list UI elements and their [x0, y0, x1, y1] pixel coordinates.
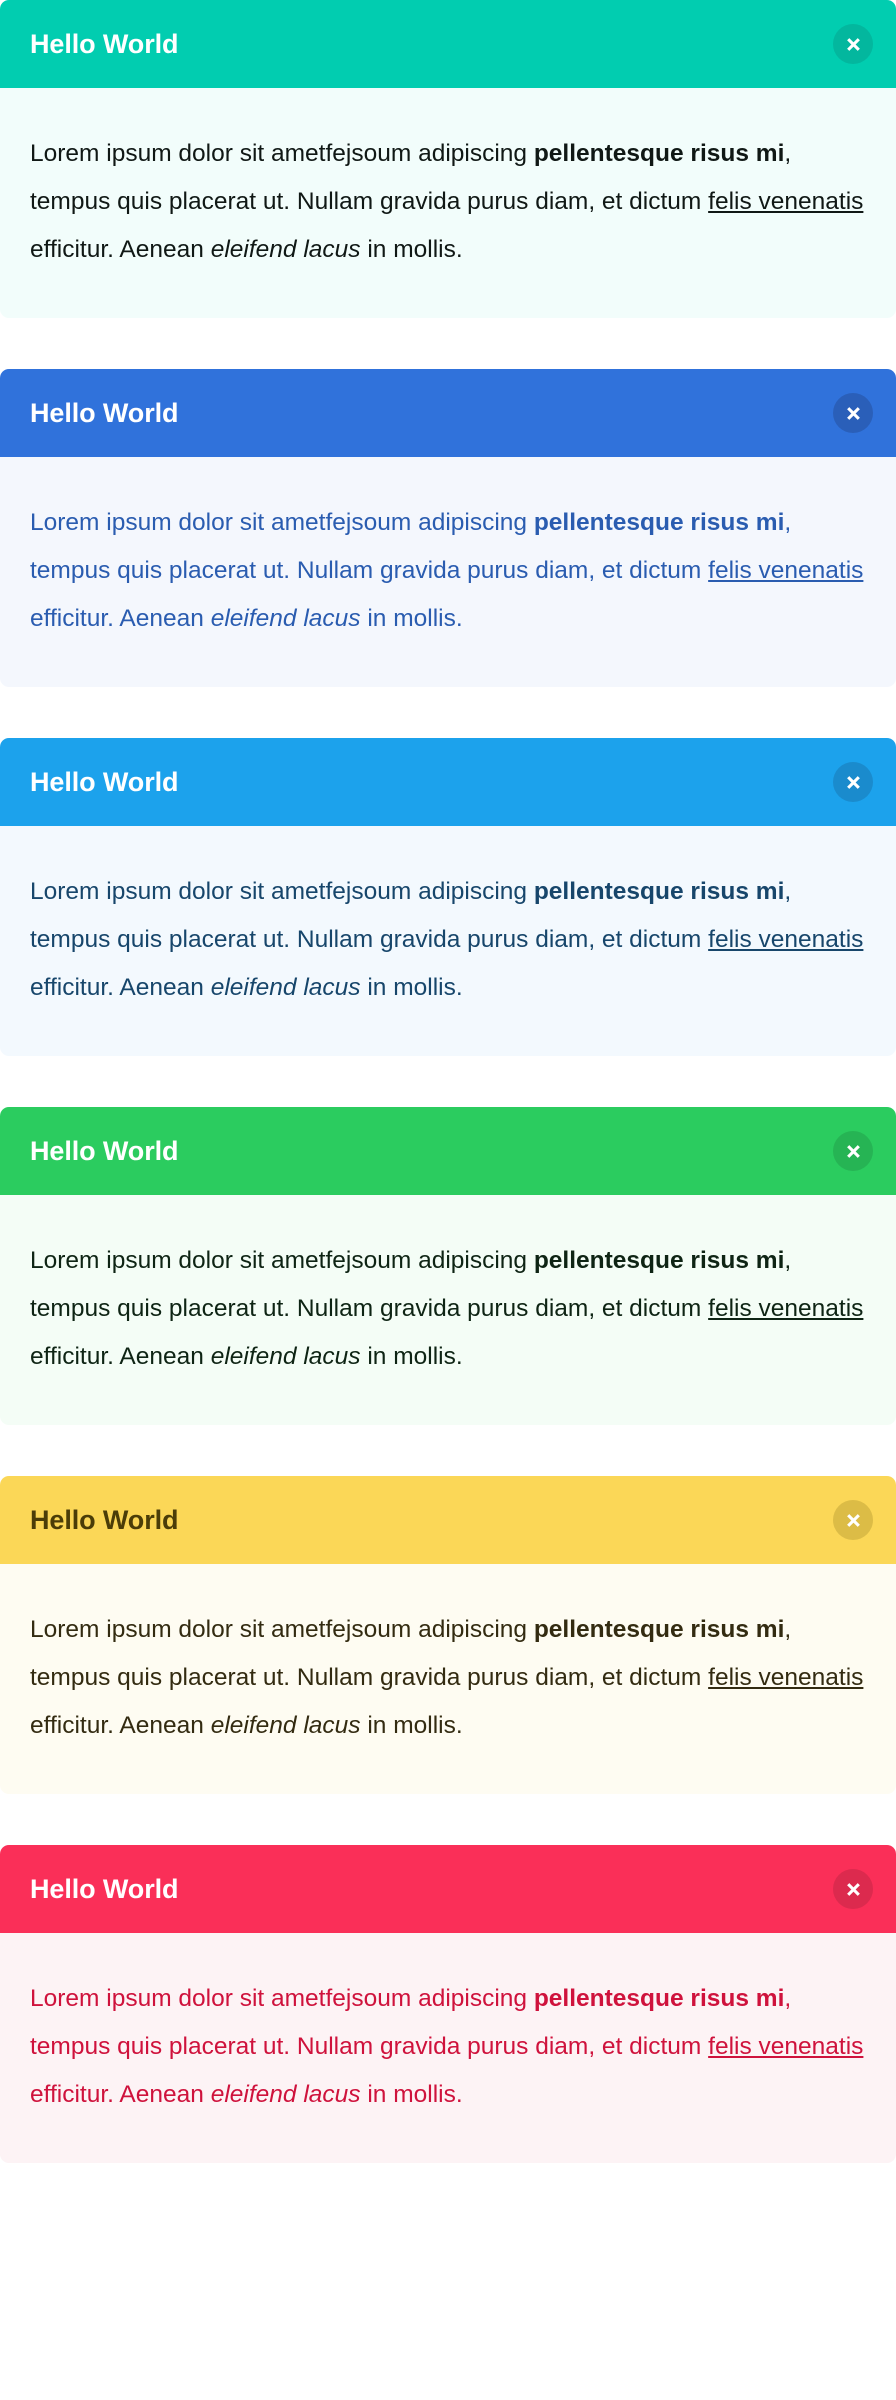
- alert-paragraph: Lorem ipsum dolor sit ametfejsoum adipis…: [30, 868, 866, 1012]
- alert-body: Lorem ipsum dolor sit ametfejsoum adipis…: [0, 1564, 896, 1794]
- text-tail: in mollis.: [361, 1712, 463, 1739]
- alert-card-info: Hello World Lorem ipsum dolor sit ametfe…: [0, 738, 896, 1056]
- alert-title: Hello World: [30, 769, 178, 796]
- felis-venenatis-link[interactable]: felis venenatis: [708, 188, 863, 215]
- alert-card-green: Hello World Lorem ipsum dolor sit ametfe…: [0, 1107, 896, 1425]
- alert-title: Hello World: [30, 31, 178, 58]
- close-button-green[interactable]: [833, 1131, 873, 1171]
- text-tail: in mollis.: [361, 236, 463, 263]
- text-after-link: efficitur. Aenean: [30, 236, 211, 263]
- text-italic: eleifend lacus: [211, 236, 361, 263]
- alert-body: Lorem ipsum dolor sit ametfejsoum adipis…: [0, 1195, 896, 1425]
- alert-title: Hello World: [30, 400, 178, 427]
- alert-header: Hello World: [0, 738, 896, 826]
- close-icon: [845, 1881, 862, 1898]
- close-icon: [845, 1143, 862, 1160]
- text-lead: Lorem ipsum dolor sit ametfejsoum adipis…: [30, 509, 534, 536]
- close-button-red[interactable]: [833, 1869, 873, 1909]
- text-lead: Lorem ipsum dolor sit ametfejsoum adipis…: [30, 1985, 534, 2012]
- alert-card-yellow: Hello World Lorem ipsum dolor sit ametfe…: [0, 1476, 896, 1794]
- close-button-yellow[interactable]: [833, 1500, 873, 1540]
- alert-header: Hello World: [0, 1845, 896, 1933]
- text-lead: Lorem ipsum dolor sit ametfejsoum adipis…: [30, 1247, 534, 1274]
- text-bold: pellentesque risus mi: [534, 1247, 785, 1274]
- text-tail: in mollis.: [361, 2081, 463, 2108]
- text-after-link: efficitur. Aenean: [30, 2081, 211, 2108]
- alert-body: Lorem ipsum dolor sit ametfejsoum adipis…: [0, 1933, 896, 2163]
- alert-card-teal: Hello World Lorem ipsum dolor sit ametfe…: [0, 0, 896, 318]
- alert-card-blue: Hello World Lorem ipsum dolor sit ametfe…: [0, 369, 896, 687]
- close-button-blue[interactable]: [833, 393, 873, 433]
- text-lead: Lorem ipsum dolor sit ametfejsoum adipis…: [30, 878, 534, 905]
- text-lead: Lorem ipsum dolor sit ametfejsoum adipis…: [30, 1616, 534, 1643]
- text-after-link: efficitur. Aenean: [30, 1343, 211, 1370]
- felis-venenatis-link[interactable]: felis venenatis: [708, 1664, 863, 1691]
- felis-venenatis-link[interactable]: felis venenatis: [708, 2033, 863, 2060]
- close-button-teal[interactable]: [833, 24, 873, 64]
- text-tail: in mollis.: [361, 974, 463, 1001]
- alert-paragraph: Lorem ipsum dolor sit ametfejsoum adipis…: [30, 1606, 866, 1750]
- alert-card-red: Hello World Lorem ipsum dolor sit ametfe…: [0, 1845, 896, 2163]
- text-after-link: efficitur. Aenean: [30, 974, 211, 1001]
- felis-venenatis-link[interactable]: felis venenatis: [708, 1295, 863, 1322]
- text-lead: Lorem ipsum dolor sit ametfejsoum adipis…: [30, 140, 534, 167]
- alert-header: Hello World: [0, 369, 896, 457]
- text-bold: pellentesque risus mi: [534, 509, 785, 536]
- close-icon: [845, 405, 862, 422]
- alert-title: Hello World: [30, 1507, 178, 1534]
- felis-venenatis-link[interactable]: felis venenatis: [708, 926, 863, 953]
- alert-body: Lorem ipsum dolor sit ametfejsoum adipis…: [0, 826, 896, 1056]
- alert-paragraph: Lorem ipsum dolor sit ametfejsoum adipis…: [30, 1237, 866, 1381]
- text-tail: in mollis.: [361, 605, 463, 632]
- text-bold: pellentesque risus mi: [534, 878, 785, 905]
- close-icon: [845, 774, 862, 791]
- text-italic: eleifend lacus: [211, 605, 361, 632]
- alert-paragraph: Lorem ipsum dolor sit ametfejsoum adipis…: [30, 130, 866, 274]
- alert-body: Lorem ipsum dolor sit ametfejsoum adipis…: [0, 88, 896, 318]
- text-italic: eleifend lacus: [211, 2081, 361, 2108]
- alert-body: Lorem ipsum dolor sit ametfejsoum adipis…: [0, 457, 896, 687]
- alert-header: Hello World: [0, 1476, 896, 1564]
- alert-header: Hello World: [0, 1107, 896, 1195]
- alert-title: Hello World: [30, 1138, 178, 1165]
- close-icon: [845, 1512, 862, 1529]
- alert-paragraph: Lorem ipsum dolor sit ametfejsoum adipis…: [30, 499, 866, 643]
- text-italic: eleifend lacus: [211, 1343, 361, 1370]
- text-bold: pellentesque risus mi: [534, 140, 785, 167]
- alert-title: Hello World: [30, 1876, 178, 1903]
- text-italic: eleifend lacus: [211, 1712, 361, 1739]
- alert-stack: Hello World Lorem ipsum dolor sit ametfe…: [0, 0, 896, 2163]
- text-after-link: efficitur. Aenean: [30, 1712, 211, 1739]
- alert-paragraph: Lorem ipsum dolor sit ametfejsoum adipis…: [30, 1975, 866, 2119]
- text-bold: pellentesque risus mi: [534, 1616, 785, 1643]
- close-button-info[interactable]: [833, 762, 873, 802]
- felis-venenatis-link[interactable]: felis venenatis: [708, 557, 863, 584]
- alert-header: Hello World: [0, 0, 896, 88]
- text-bold: pellentesque risus mi: [534, 1985, 785, 2012]
- close-icon: [845, 36, 862, 53]
- text-italic: eleifend lacus: [211, 974, 361, 1001]
- text-tail: in mollis.: [361, 1343, 463, 1370]
- text-after-link: efficitur. Aenean: [30, 605, 211, 632]
